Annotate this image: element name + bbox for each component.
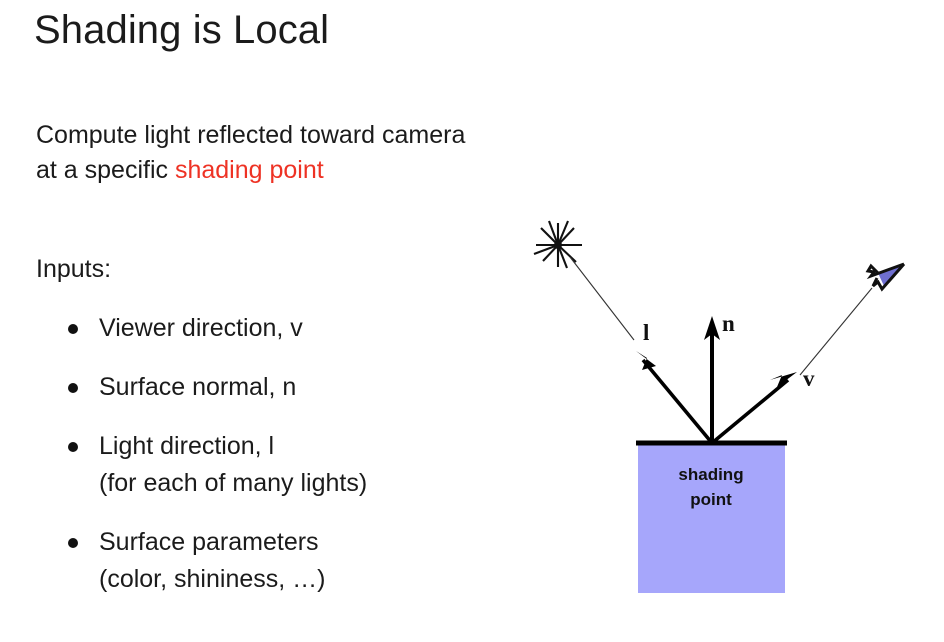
label-normal-vector: n (722, 311, 735, 336)
paragraph-line-1: Compute light reflected toward camera (36, 118, 506, 153)
bullet-dot-icon (68, 383, 78, 393)
shading-point-label-line-1: shading (678, 465, 743, 484)
paragraph-line-2-prefix: at a specific (36, 156, 175, 184)
slide-canvas: Shading is Local Compute light reflected… (0, 0, 944, 642)
bullet-dot-icon (68, 442, 78, 452)
shading-point-highlight: shading point (175, 156, 324, 184)
list-item: Viewer direction, v (64, 310, 534, 347)
list-item: Surface parameters (color, shininess, …) (64, 524, 534, 598)
list-item: Light direction, l (for each of many lig… (64, 428, 534, 502)
bullet-dot-icon (68, 538, 78, 548)
list-item: Surface normal, n (64, 369, 534, 406)
eye-icon (868, 264, 904, 289)
view-ray-line (800, 288, 872, 375)
shading-geometry-diagram: l n v shading point (500, 190, 944, 620)
bullet-dot-icon (68, 324, 78, 334)
list-item-label: Light direction, l (99, 432, 274, 460)
list-item-sublabel: (for each of many lights) (99, 465, 534, 502)
list-item-label: Surface normal, n (99, 373, 296, 401)
label-view-vector: v (803, 366, 815, 391)
paragraph-line-2: at a specific shading point (36, 153, 506, 188)
list-item-label: Viewer direction, v (99, 314, 303, 342)
label-light-vector: l (643, 320, 649, 345)
surface-normal-vector (704, 316, 720, 443)
light-source-point-icon (554, 241, 562, 249)
intro-paragraph: Compute light reflected toward camera at… (36, 118, 506, 188)
list-item-label: Surface parameters (99, 528, 319, 556)
inputs-bullet-list: Viewer direction, v Surface normal, n Li… (64, 310, 534, 620)
list-item-sublabel: (color, shininess, …) (99, 561, 534, 598)
view-direction-vector (712, 372, 797, 443)
page-title: Shading is Local (34, 8, 329, 53)
inputs-label: Inputs: (36, 255, 111, 284)
light-direction-vector (636, 351, 712, 443)
light-ray-line (570, 257, 634, 340)
shading-point-label-line-2: point (690, 490, 732, 509)
